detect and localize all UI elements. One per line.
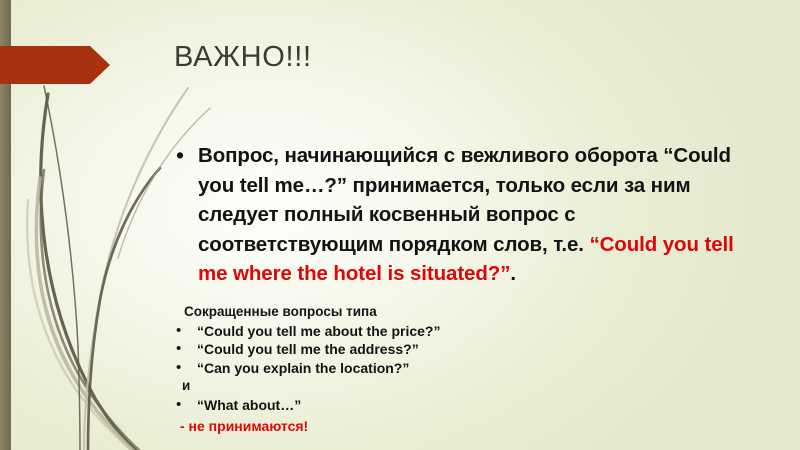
slide-canvas: ВАЖНО!!! • Вопрос, начинающийся с вежлив… bbox=[0, 0, 800, 450]
main-point-text: Вопрос, начинающийся с вежливого оборота… bbox=[198, 141, 736, 289]
sub-section-block: Сокращенные вопросы типа • “Could you te… bbox=[176, 303, 616, 436]
list-item-label: “What about…” bbox=[197, 396, 616, 415]
bullet-icon: • bbox=[176, 322, 197, 341]
conjunction-label: и bbox=[176, 377, 616, 396]
main-point-block: • Вопрос, начинающийся с вежливого оборо… bbox=[176, 141, 736, 289]
page-title: ВАЖНО!!! bbox=[174, 41, 312, 74]
bullet-icon: • bbox=[176, 141, 198, 171]
main-bullet-row: • Вопрос, начинающийся с вежливого оборо… bbox=[176, 141, 736, 289]
list-item-label: “Can you explain the location?” bbox=[197, 359, 616, 378]
bullet-icon: • bbox=[176, 340, 197, 359]
sub-section-heading: Сокращенные вопросы типа bbox=[176, 303, 616, 322]
red-arrow-banner-icon bbox=[0, 46, 112, 84]
conclusion-text: - не принимаются! bbox=[176, 415, 616, 436]
list-item-label: “Could you tell me the address?” bbox=[197, 340, 616, 359]
list-item: • “What about…” bbox=[176, 396, 616, 415]
list-item-label: “Could you tell me about the price?” bbox=[197, 322, 616, 341]
list-item: • “Could you tell me about the price?” bbox=[176, 322, 616, 341]
bullet-icon: • bbox=[176, 359, 197, 378]
main-point-segment-black-2: . bbox=[510, 262, 516, 285]
bullet-icon: • bbox=[176, 396, 197, 415]
list-item: • “Can you explain the location?” bbox=[176, 359, 616, 378]
list-item: • “Could you tell me the address?” bbox=[176, 340, 616, 359]
